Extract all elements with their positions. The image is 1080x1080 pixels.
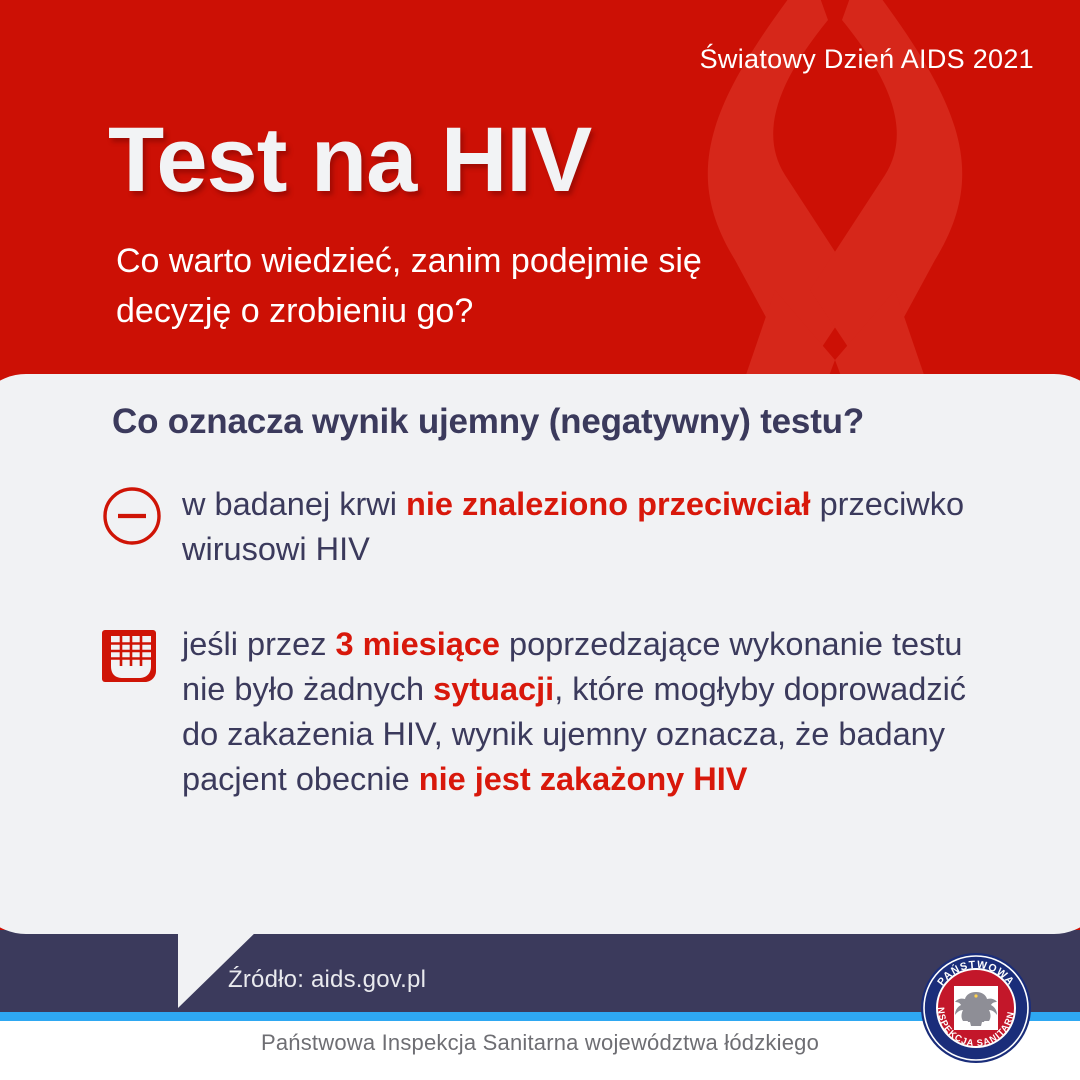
minus-circle-icon <box>96 484 168 556</box>
event-eyebrow: Światowy Dzień AIDS 2021 <box>700 44 1034 75</box>
page-title: Test na HIV <box>108 114 591 206</box>
list-item: w badanej krwi nie znaleziono przeciwcia… <box>96 482 1016 572</box>
list-item-text: w badanej krwi nie znaleziono przeciwcia… <box>182 482 1012 572</box>
poster-canvas: Światowy Dzień AIDS 2021 Test na HIV Co … <box>0 0 1080 1080</box>
blue-accent-stripe <box>0 1012 1080 1021</box>
calendar-icon <box>92 624 170 696</box>
source-label: Źródło: aids.gov.pl <box>228 966 426 994</box>
card-heading: Co oznacza wynik ujemny (negatywny) test… <box>112 402 864 442</box>
list-item-text: jeśli przez 3 miesiące poprzedzające wyk… <box>182 622 1002 801</box>
organization-footer: Państwowa Inspekcja Sanitarna województw… <box>0 1030 1080 1056</box>
navy-footer-band <box>0 930 1080 1012</box>
list-item: jeśli przez 3 miesiące poprzedzające wyk… <box>92 622 1022 801</box>
page-subtitle: Co warto wiedzieć, zanim podejmie się de… <box>116 236 816 337</box>
